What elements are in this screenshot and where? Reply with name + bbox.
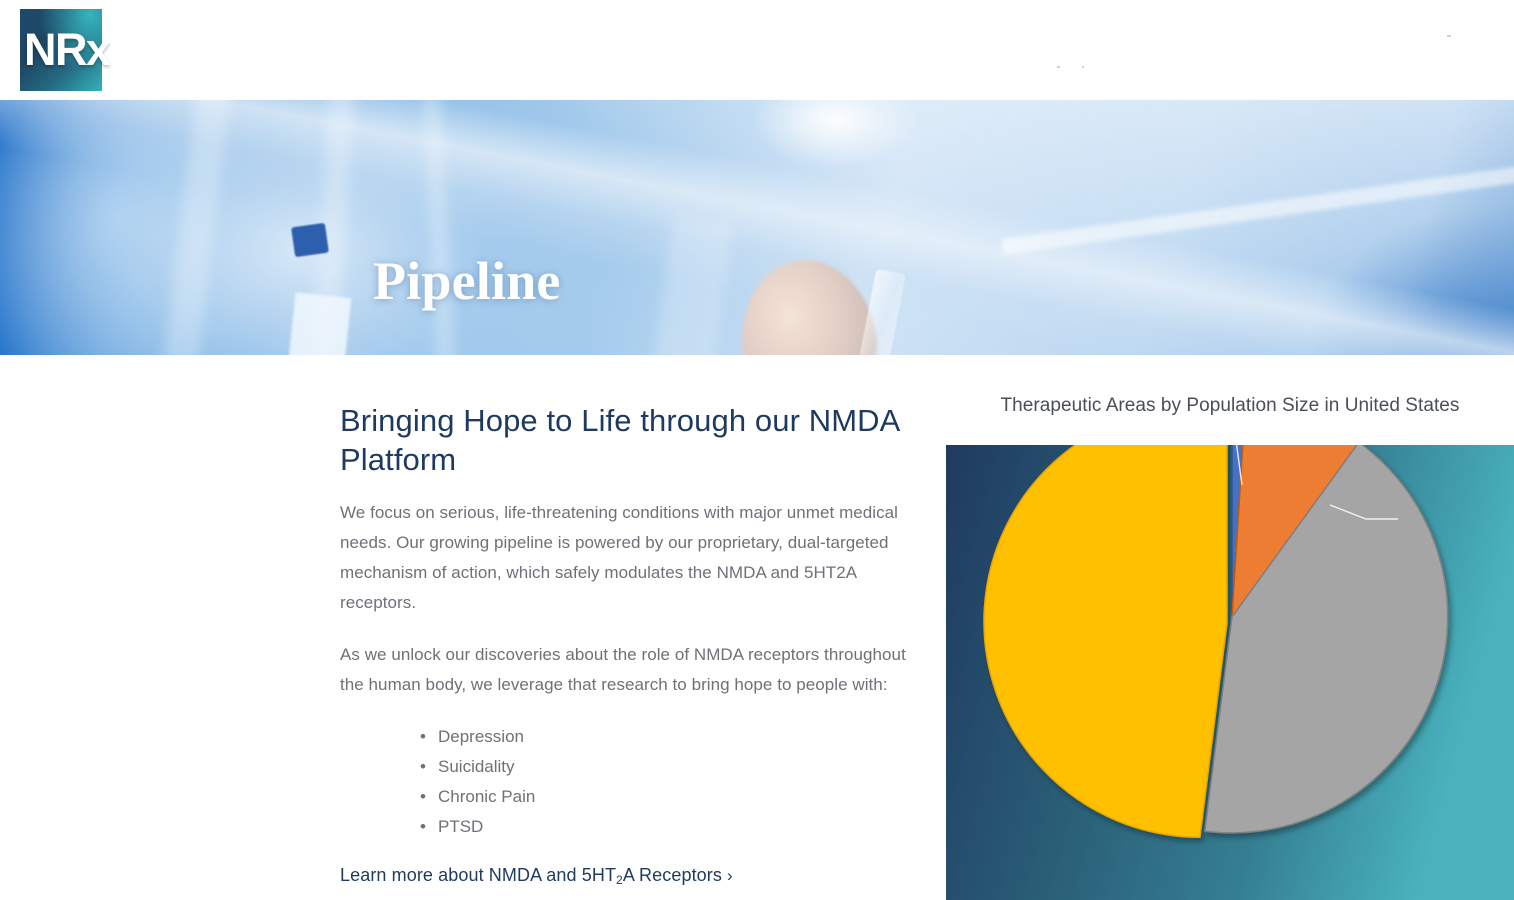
list-item: Depression xyxy=(340,722,920,752)
chart-canvas xyxy=(946,445,1514,900)
page-title: Pipeline xyxy=(373,248,561,314)
therapeutic-areas-chart: Therapeutic Areas by Population Size in … xyxy=(946,355,1514,900)
hero-decor-coat-pocket xyxy=(285,292,352,355)
chevron-right-icon: › xyxy=(727,866,733,885)
logo-wordmark: NRx xyxy=(24,23,124,77)
list-item: Suicidality xyxy=(340,752,920,782)
chart-title: Therapeutic Areas by Population Size in … xyxy=(946,393,1514,419)
learn-more-link[interactable]: Learn more about NMDA and 5HT2A Receptor… xyxy=(340,862,733,890)
learn-more-prefix: Learn more about NMDA and 5HT xyxy=(340,865,616,885)
hero-decor-badge xyxy=(291,223,329,257)
render-artifact xyxy=(1447,35,1451,37)
main-content: Bringing Hope to Life through our NMDA P… xyxy=(0,355,1514,900)
learn-more-suffix: A Receptors xyxy=(623,865,722,885)
intro-paragraph-2: As we unlock our discoveries about the r… xyxy=(340,640,920,700)
conditions-list: Depression Suicidality Chronic Pain PTSD xyxy=(340,722,920,842)
intro-paragraph-1: We focus on serious, life-threatening co… xyxy=(340,498,920,618)
hero-banner: Pipeline xyxy=(0,100,1514,355)
section-heading: Bringing Hope to Life through our NMDA P… xyxy=(340,401,920,479)
list-item: Chronic Pain xyxy=(340,782,920,812)
site-header: NRx xyxy=(0,0,1514,100)
learn-more-subscript: 2 xyxy=(616,873,623,887)
render-artifact xyxy=(1082,66,1084,68)
render-artifact xyxy=(1057,66,1060,68)
intro-copy-column: Bringing Hope to Life through our NMDA P… xyxy=(340,401,920,890)
list-item: PTSD xyxy=(340,812,920,842)
pie-chart-svg xyxy=(946,445,1514,900)
site-logo[interactable]: NRx xyxy=(12,9,122,91)
